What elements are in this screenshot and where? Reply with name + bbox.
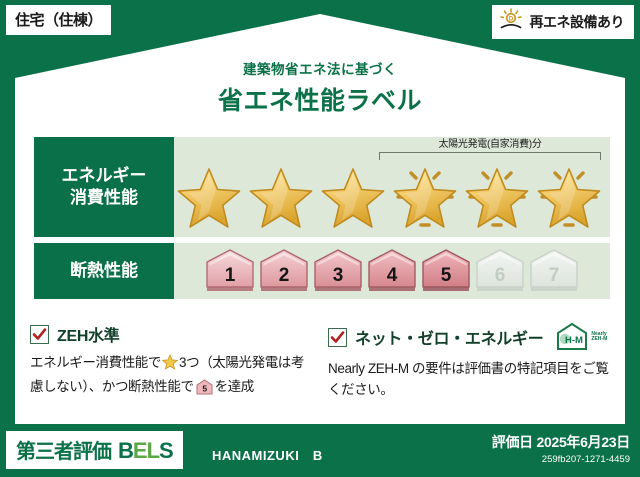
renewable-badge-label: 再エネ設備あり	[530, 12, 625, 32]
title-block: 建築物省エネ法に基づく 省エネ性能ラベル	[0, 58, 640, 117]
note-zeh-standard: ZEH水準 エネルギー消費性能で3つ（太陽光発電は考慮しない）、かつ断熱性能で5…	[30, 322, 312, 402]
energy-performance-row: エネルギー 消費性能 太陽光発電(自家消費)分	[34, 137, 610, 237]
zeh-desc-part1: エネルギー消費性能で	[30, 355, 161, 370]
bels-letter-b: B	[118, 438, 133, 463]
insulation-level-3: 3	[312, 248, 364, 294]
inline-house-icon: 5	[196, 379, 213, 402]
svg-text:D: D	[508, 17, 513, 23]
bels-plate: 第三者評価 BELS	[6, 431, 183, 469]
zeh-m-house-icon: H-M	[555, 322, 589, 352]
insulation-level-7: 7	[528, 248, 580, 294]
bels-logo: BELS	[118, 438, 173, 464]
net-zero-description: Nearly ZEH-M の要件は評価書の特記項目をご覧ください。	[328, 359, 610, 401]
solar-annotation: 太陽光発電(自家消費)分	[379, 139, 601, 160]
energy-label-line2: 消費性能	[70, 187, 138, 209]
insulation-performance-label: 断熱性能	[34, 243, 174, 299]
energy-label-line1: エネルギー	[62, 165, 147, 187]
insulation-level-number: 6	[495, 265, 506, 287]
evaluation-info: 評価日 2025年6月23日 259fb207-1271-4459	[492, 432, 630, 465]
evaluation-date: 評価日 2025年6月23日	[492, 432, 630, 452]
note-nze-header: ネット・ゼロ・エネルギー H-M Nearly ZEH-M	[328, 322, 610, 352]
insulation-performance-row: 断熱性能 1 2	[34, 243, 610, 299]
solar-annotation-label: 太陽光発電(自家消費)分	[379, 139, 601, 151]
net-zero-checkbox[interactable]	[328, 328, 347, 347]
check-icon	[330, 330, 345, 345]
bels-letter-s: S	[159, 438, 173, 463]
zeh-title: ZEH水準	[57, 322, 120, 346]
insulation-level-6: 6	[474, 248, 526, 294]
performance-rows: エネルギー 消費性能 太陽光発電(自家消費)分	[34, 137, 610, 299]
inline-star-icon	[162, 354, 178, 377]
solar-bracket	[379, 152, 601, 160]
evaluation-id: 259fb207-1271-4459	[492, 454, 630, 465]
insulation-rating-panel: 1 2 3	[174, 243, 610, 299]
insulation-level-number: 4	[387, 265, 398, 287]
notes-section: ZEH水準 エネルギー消費性能で3つ（太陽光発電は考慮しない）、かつ断熱性能で5…	[30, 322, 610, 402]
insulation-level-1: 1	[204, 248, 256, 294]
insulation-level-number: 7	[549, 265, 560, 287]
note-net-zero-energy: ネット・ゼロ・エネルギー H-M Nearly ZEH-M Nearly ZEH…	[328, 322, 610, 402]
svg-text:H-M: H-M	[565, 335, 583, 346]
energy-performance-label: エネルギー 消費性能	[34, 137, 174, 237]
insulation-level-4: 4	[366, 248, 418, 294]
building-type-tag: 住宅（住棟）	[6, 5, 111, 35]
star-solar	[391, 161, 459, 233]
insulation-label-text: 断熱性能	[70, 260, 138, 282]
check-icon	[32, 327, 47, 342]
star-rating	[174, 161, 604, 233]
page-title: 省エネ性能ラベル	[0, 81, 640, 117]
title-subtitle: 建築物省エネ法に基づく	[0, 58, 640, 78]
bels-letter-e: E	[133, 438, 147, 463]
net-zero-title: ネット・ゼロ・エネルギー	[355, 325, 543, 349]
property-name: HANAMIZUKI B	[212, 445, 323, 464]
zeh-m-caption: Nearly ZEH-M	[591, 332, 607, 343]
insulation-level-5: 5	[420, 248, 472, 294]
zeh-checkbox[interactable]	[30, 325, 49, 344]
insulation-level-scale: 1 2 3	[174, 243, 610, 299]
insulation-level-number: 3	[333, 265, 344, 287]
evaluation-date-value: 2025年6月23日	[536, 434, 630, 450]
zeh-m-caption-line2: ZEH-M	[591, 336, 607, 342]
insulation-level-number: 2	[279, 265, 290, 287]
third-party-evaluation-label: 第三者評価	[16, 435, 111, 464]
zeh-description: エネルギー消費性能で3つ（太陽光発電は考慮しない）、かつ断熱性能で5を達成	[30, 353, 312, 402]
star-solar	[535, 161, 603, 233]
insulation-level-number: 1	[225, 265, 236, 287]
insulation-level-number: 5	[441, 265, 452, 287]
insulation-level-2: 2	[258, 248, 310, 294]
star-base	[175, 161, 243, 233]
energy-rating-panel: 太陽光発電(自家消費)分	[174, 137, 610, 237]
note-zeh-header: ZEH水準	[30, 322, 312, 346]
bels-letter-l: L	[147, 438, 159, 463]
svg-text:5: 5	[202, 383, 207, 393]
energy-performance-label-card: パッ入ネ 住宅（住棟） D 再エネ設備あり 建築物省エネ法に基づく 省エネ性能ラ…	[0, 0, 640, 477]
star-base	[319, 161, 387, 233]
zeh-m-logo: H-M Nearly ZEH-M	[555, 322, 607, 352]
star-solar	[463, 161, 531, 233]
renewable-equipment-badge: D 再エネ設備あり	[492, 5, 635, 39]
star-base	[247, 161, 315, 233]
zeh-desc-part3: を達成	[215, 379, 254, 394]
sun-icon: D	[498, 8, 524, 35]
footer-bar: 第三者評価 BELS HANAMIZUKI B 評価日 2025年6月23日 2…	[0, 424, 640, 477]
evaluation-date-label: 評価日	[492, 434, 533, 450]
